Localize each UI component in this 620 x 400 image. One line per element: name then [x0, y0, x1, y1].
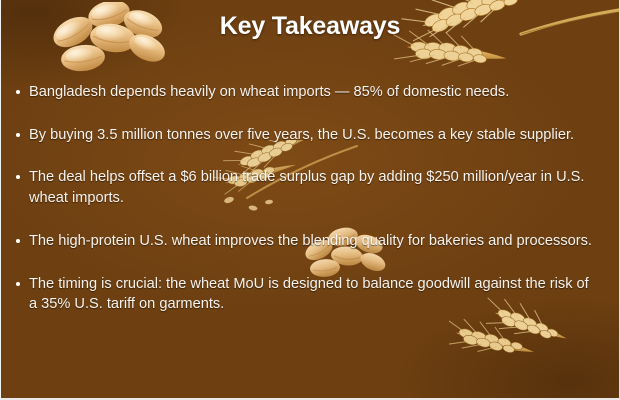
list-item: Bangladesh depends heavily on wheat impo… [15, 82, 599, 103]
list-item: By buying 3.5 million tonnes over five y… [15, 125, 599, 146]
list-item: The deal helps offset a $6 billion trade… [15, 167, 599, 208]
list-item: The timing is crucial: the wheat MoU is … [15, 274, 599, 315]
list-item: The high-protein U.S. wheat improves the… [15, 231, 599, 252]
page-title: Key Takeaways [1, 12, 619, 41]
key-takeaways-slide: Key Takeaways [0, 0, 620, 400]
takeaways-list: Bangladesh depends heavily on wheat impo… [1, 72, 619, 315]
slide-header: Key Takeaways [1, 0, 619, 72]
